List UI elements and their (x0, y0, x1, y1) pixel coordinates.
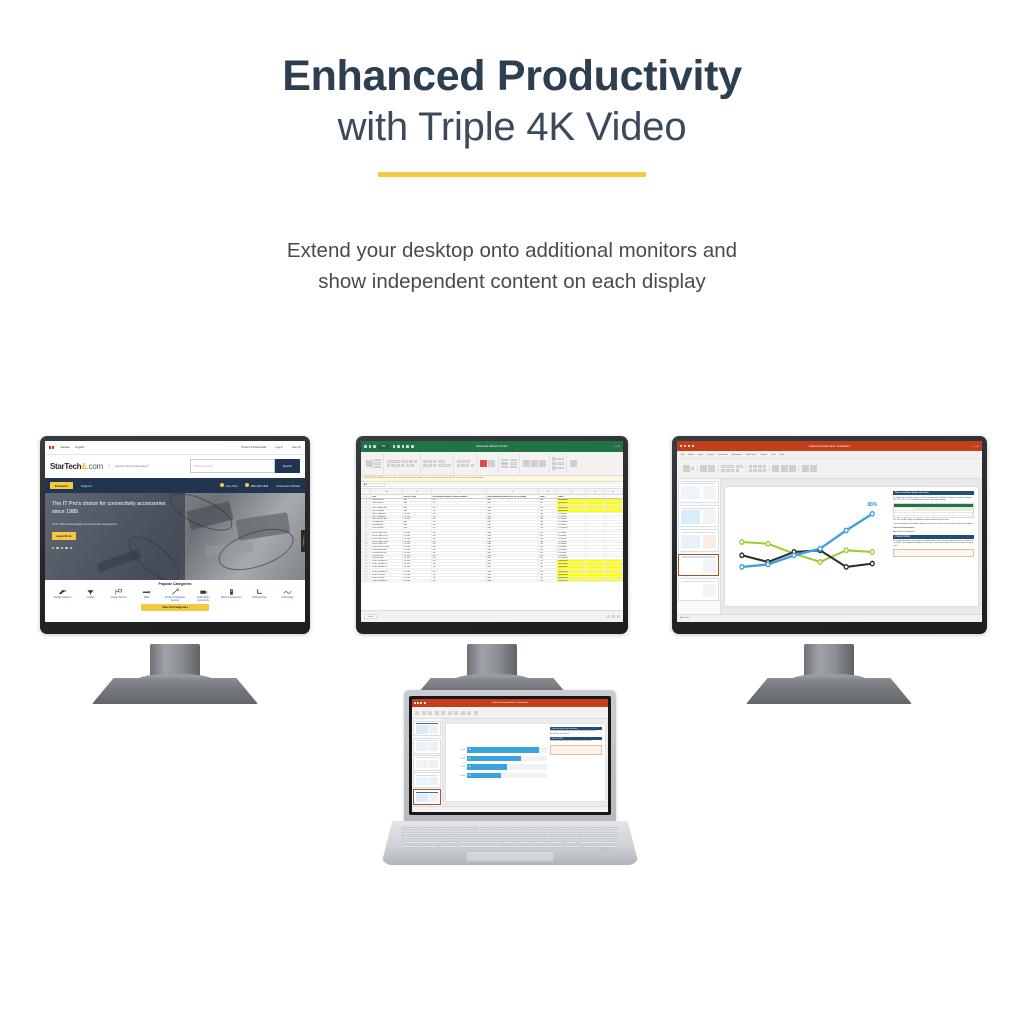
cell-blank[interactable] (605, 510, 623, 512)
cell-basic[interactable]: Basic Enhanced Option (Only Call On Usag… (487, 496, 539, 498)
cell-full[interactable]: Yes (432, 566, 487, 568)
cell-min[interactable]: On Site (403, 574, 432, 576)
cell-blank[interactable] (605, 535, 623, 537)
cell-full[interactable]: Full Enhanced Option (Contact Included) (432, 496, 487, 498)
cell-blank[interactable] (605, 505, 623, 507)
slide-thumbnail-5[interactable] (678, 578, 719, 600)
bar-chart-row[interactable]: Cat 251 (449, 756, 547, 762)
row-number[interactable]: 20 (361, 549, 371, 551)
cell-basic[interactable]: N/A (487, 532, 539, 534)
cell-full[interactable]: Yes (432, 571, 487, 573)
cell-video[interactable]: Yes (539, 516, 557, 518)
laptop-slide-thumbnails[interactable] (412, 719, 443, 806)
cell-blank[interactable] (586, 507, 604, 509)
ribbon-group-styles[interactable] (477, 453, 498, 474)
cell-basic[interactable]: N/A (487, 516, 539, 518)
category-kvm-switches[interactable]: KVM Switches (247, 588, 272, 602)
cell-full[interactable]: Yes (432, 510, 487, 512)
cell-blank[interactable] (586, 510, 604, 512)
cell-sku[interactable]: SKU (371, 496, 402, 498)
cell-min[interactable]: N/A (403, 507, 432, 509)
row-number[interactable]: 4 (361, 505, 371, 507)
cell-status[interactable]: In Review (557, 543, 586, 545)
cell-status[interactable]: Syndicated (557, 569, 586, 571)
cell-video[interactable]: Video (539, 496, 557, 498)
cell-sku[interactable]: DKMYCHDMIDP2 (371, 566, 402, 568)
tab-insert[interactable]: Insert (698, 454, 703, 456)
cell-status[interactable]: In Review (557, 555, 586, 557)
cell-basic[interactable]: N/A (487, 580, 539, 582)
laptop-slide-thumbnail-3[interactable] (413, 755, 441, 771)
cell-min[interactable]: On Site (403, 569, 432, 571)
sheet-tab-1[interactable]: Sheet1 (364, 614, 377, 619)
category-device-hardware-security[interactable]: Device & Hardware Security (163, 588, 188, 602)
cell-video[interactable]: Yes (539, 513, 557, 515)
ribbon-group-font[interactable] (384, 453, 421, 474)
cell-basic[interactable]: N/A (487, 569, 539, 571)
feedback-tab[interactable]: Feedback (301, 530, 305, 552)
cell-full[interactable]: Yes (432, 499, 487, 501)
row-number[interactable]: 8 (361, 516, 371, 518)
cell-blank[interactable] (605, 569, 623, 571)
cell-status[interactable]: Syndicated (557, 574, 586, 576)
cell-basic[interactable]: N/A (487, 557, 539, 559)
excel-ribbon[interactable] (361, 452, 623, 476)
tab-slideshow[interactable]: Slide Show (746, 454, 756, 456)
cell-min[interactable]: On Site (403, 560, 432, 562)
table-row[interactable]: 31DKMYCHDMIDC4On SiteYesN/AYesSyndicated (361, 580, 623, 583)
cell-blank[interactable] (605, 538, 623, 540)
col-E[interactable]: E (539, 489, 557, 494)
cell-sku[interactable]: DKDPMDH2DLA (371, 549, 402, 551)
cell-blank[interactable] (605, 516, 623, 518)
cell-sku[interactable]: MXHDMIDVIF (371, 499, 402, 501)
cell-video[interactable]: Yes (539, 546, 557, 548)
cell-status[interactable]: Status (557, 496, 586, 498)
cell-video[interactable]: Yes (539, 566, 557, 568)
cell-status[interactable]: In Review (557, 538, 586, 540)
cell-video[interactable]: Yes (539, 518, 557, 520)
cell-basic[interactable]: N/A (487, 555, 539, 557)
nav-support[interactable]: Support (77, 482, 96, 489)
slide-thumbnail-4[interactable] (678, 554, 719, 576)
cell-blank[interactable] (586, 538, 604, 540)
cell-basic[interactable]: N/A (487, 538, 539, 540)
cell-full[interactable]: Yes (432, 502, 487, 504)
cell-status[interactable]: Syndicated (557, 577, 586, 579)
cell-full[interactable]: Yes (432, 541, 487, 543)
cell-min[interactable]: On Site (403, 518, 432, 520)
cell-status[interactable]: Syndicated (557, 560, 586, 562)
phone-link[interactable]: 800-265-1844 (245, 483, 268, 488)
cell-blank[interactable] (586, 541, 604, 543)
cell-min[interactable]: On Site (403, 530, 432, 532)
slide-thumbnail-2[interactable] (678, 505, 719, 527)
cell-sku[interactable]: DKDPM2DLO (371, 555, 402, 557)
row-number[interactable]: 22 (361, 555, 371, 557)
cell-basic[interactable]: N/A (487, 521, 539, 523)
row-number[interactable]: 2 (361, 499, 371, 501)
cell-video[interactable]: Yes (539, 580, 557, 582)
cell-status[interactable]: In Review (557, 513, 586, 515)
cell-video[interactable]: Yes (539, 555, 557, 557)
cell-basic[interactable]: N/A (487, 507, 539, 509)
cell-video[interactable]: Yes (539, 521, 557, 523)
slide-thumbnail-3[interactable] (678, 529, 719, 551)
cell-blank[interactable] (605, 527, 623, 529)
slide-thumbnail-1[interactable] (678, 481, 719, 503)
row-number[interactable]: 26 (361, 566, 371, 568)
cell-min[interactable]: On Site (403, 577, 432, 579)
live-chat-link[interactable]: Live Chat (220, 483, 237, 488)
cell-full[interactable]: Yes (432, 521, 487, 523)
cell-min[interactable]: On Site (403, 580, 432, 582)
cell-sku[interactable]: MXDPTRACK2DL3 (371, 538, 402, 540)
cell-sku[interactable]: MXDP2HDMI (371, 527, 402, 529)
cell-status[interactable]: In Review (557, 549, 586, 551)
cell-status[interactable]: Syndicated (557, 571, 586, 573)
cell-blank[interactable] (586, 574, 604, 576)
cell-min[interactable]: On Site (403, 563, 432, 565)
cell-full[interactable]: Yes (432, 560, 487, 562)
cell-full[interactable]: Yes (432, 527, 487, 529)
cell-blank[interactable] (605, 541, 623, 543)
cell-video[interactable]: Yes (539, 505, 557, 507)
drivers-downloads-link[interactable]: Drivers & Downloads (241, 446, 266, 449)
cart-link[interactable]: Cart (0) (292, 446, 301, 449)
row-number[interactable]: 25 (361, 563, 371, 565)
cell-full[interactable]: Yes (432, 563, 487, 565)
cell-min[interactable]: On Site (403, 538, 432, 540)
cell-video[interactable]: Yes (539, 507, 557, 509)
cell-full[interactable]: Yes (432, 552, 487, 554)
cell-blank[interactable] (586, 524, 604, 526)
cell-blank[interactable] (586, 560, 604, 562)
cell-sku[interactable]: MDP2HD4KS (371, 502, 402, 504)
cell-status[interactable]: In Review (557, 530, 586, 532)
cell-full[interactable]: Yes (432, 513, 487, 515)
cell-min[interactable]: MIN or On Site (403, 496, 432, 498)
cell-full[interactable]: Yes (432, 574, 487, 576)
file-tab[interactable]: File (379, 445, 389, 449)
column-headers[interactable]: A B C D E F G H (361, 489, 623, 495)
row-number[interactable]: 15 (361, 535, 371, 537)
cell-basic[interactable]: N/A (487, 560, 539, 562)
cell-sku[interactable]: DKMYCHDMIDPN (371, 560, 402, 562)
cell-blank[interactable] (605, 571, 623, 573)
sheet-tabs[interactable]: Sheet1 (364, 614, 377, 619)
formula-bar[interactable]: A1 (361, 482, 623, 489)
excel-grid[interactable]: 1SKUMIN or On SiteFull Enhanced Option (… (361, 496, 623, 610)
cell-sku[interactable]: MDP2HDMIVGA (371, 505, 402, 507)
cell-full[interactable]: Yes (432, 569, 487, 571)
cell-blank[interactable] (586, 546, 604, 548)
cell-video[interactable]: Yes (539, 543, 557, 545)
col-F[interactable]: F (557, 489, 586, 494)
cell-blank[interactable] (586, 505, 604, 507)
col-B[interactable]: B (403, 489, 432, 494)
cell-basic[interactable]: N/A (487, 563, 539, 565)
col-D[interactable]: D (487, 489, 539, 494)
cell-blank[interactable] (605, 580, 623, 582)
cell-min[interactable]: On Site (403, 535, 432, 537)
row-number[interactable]: 18 (361, 543, 371, 545)
cell-sku[interactable]: MDP2HDMIVGA2 (371, 518, 402, 520)
cell-video[interactable]: Yes (539, 527, 557, 529)
row-number[interactable]: 24 (361, 560, 371, 562)
zoom-controls[interactable] (607, 615, 620, 618)
cell-basic[interactable]: N/A (487, 510, 539, 512)
ribbon-group-cells[interactable] (520, 453, 550, 474)
laptop-keyboard[interactable] (402, 827, 617, 848)
cell-blank[interactable] (605, 513, 623, 515)
cell-basic[interactable]: N/A (487, 530, 539, 532)
cell-full[interactable]: Yes (432, 580, 487, 582)
cell-basic[interactable]: N/A (487, 527, 539, 529)
ribbon-group-analysis[interactable] (567, 453, 579, 474)
row-number[interactable]: 7 (361, 513, 371, 515)
cell-basic[interactable]: N/A (487, 552, 539, 554)
tab-review[interactable]: Review (760, 454, 767, 456)
quick-access-toolbar[interactable] (364, 445, 376, 448)
cell-full[interactable]: Yes (432, 505, 487, 507)
cell-blank[interactable] (586, 555, 604, 557)
cell-full[interactable]: Yes (432, 538, 487, 540)
cell-blank[interactable] (605, 577, 623, 579)
tab-view[interactable]: View (771, 454, 775, 456)
cell-video[interactable]: Yes (539, 563, 557, 565)
cell-full[interactable]: Yes (432, 543, 487, 545)
cell-status[interactable]: In Review (557, 516, 586, 518)
cell-full[interactable]: Yes (432, 516, 487, 518)
cell-sku[interactable]: DKDPMDH2DLB (371, 552, 402, 554)
cell-basic[interactable]: N/A (487, 518, 539, 520)
row-number[interactable]: 5 (361, 507, 371, 509)
bar-chart-row[interactable]: Cat 168 (449, 747, 547, 753)
login-link[interactable]: Log In (275, 446, 282, 449)
bar-chart-row[interactable]: Cat 432 (449, 773, 547, 779)
cell-min[interactable]: On Site (403, 571, 432, 573)
cell-video[interactable]: Yes (539, 530, 557, 532)
tab-animations[interactable]: Animations (732, 454, 742, 456)
hero-carousel-dots[interactable] (52, 547, 178, 549)
nav-products[interactable]: Products (50, 482, 73, 489)
cell-full[interactable]: Yes (432, 507, 487, 509)
cell-blank[interactable] (586, 502, 604, 504)
cell-blank[interactable] (586, 563, 604, 565)
ppt-group-editing[interactable] (799, 465, 819, 472)
laptop-slide-thumbnail-4[interactable] (413, 772, 441, 788)
cell-sku[interactable]: MDP2DPMM6 (371, 510, 402, 512)
cell-status[interactable]: Syndicated (557, 507, 586, 509)
cell-status[interactable]: In Review (557, 524, 586, 526)
cell-status[interactable]: In Review (557, 518, 586, 520)
cell-full[interactable]: Yes (432, 524, 487, 526)
row-number[interactable]: 14 (361, 532, 371, 534)
slide-canvas[interactable]: 88% These are Excel charts with data To … (721, 479, 982, 614)
category-display-mounts[interactable]: Display Mounts (106, 588, 131, 602)
cell-video[interactable]: Yes (539, 571, 557, 573)
cell-status[interactable]: In Review (557, 532, 586, 534)
cell-min[interactable]: On Site (403, 543, 432, 545)
formula-input[interactable] (388, 483, 621, 487)
cell-video[interactable]: Yes (539, 552, 557, 554)
cell-blank[interactable] (586, 496, 604, 498)
cell-blank[interactable] (586, 569, 604, 571)
row-number[interactable]: 29 (361, 574, 371, 576)
cell-basic[interactable]: N/A (487, 524, 539, 526)
cell-basic[interactable]: N/A (487, 513, 539, 515)
laptop-slide-thumbnail-1[interactable] (413, 721, 441, 737)
cell-blank[interactable] (586, 543, 604, 545)
cell-video[interactable]: Yes (539, 560, 557, 562)
cell-min[interactable]: On Site (403, 552, 432, 554)
cell-status[interactable]: In Review (557, 546, 586, 548)
row-number[interactable]: 17 (361, 541, 371, 543)
cell-blank[interactable] (605, 574, 623, 576)
cell-blank[interactable] (605, 543, 623, 545)
cell-status[interactable]: In Progress (557, 557, 586, 559)
cell-status[interactable]: Syndicated (557, 502, 586, 504)
cell-min[interactable]: On Site (403, 516, 432, 518)
row-number[interactable]: 28 (361, 571, 371, 573)
cell-video[interactable]: Yes (539, 541, 557, 543)
search-button[interactable]: Search (275, 459, 300, 473)
ribbon-group-alignment[interactable] (421, 453, 454, 474)
row-number[interactable]: 23 (361, 557, 371, 559)
cell-blank[interactable] (605, 552, 623, 554)
cell-basic[interactable]: N/A (487, 502, 539, 504)
category-sfps[interactable]: SFPs (134, 588, 159, 602)
cell-basic[interactable]: N/A (487, 566, 539, 568)
cell-blank[interactable] (605, 499, 623, 501)
cell-basic[interactable]: N/A (487, 505, 539, 507)
cell-sku[interactable]: DKMYC4DPBR (371, 574, 402, 576)
tab-design[interactable]: Design (707, 454, 713, 456)
cell-blank[interactable] (586, 557, 604, 559)
category-racks-enclosures[interactable]: Racks & Enclosures (219, 588, 244, 602)
cell-blank[interactable] (586, 513, 604, 515)
cell-min[interactable]: N/A (403, 521, 432, 523)
cell-video[interactable]: Yes (539, 532, 557, 534)
cell-min[interactable]: N/A (403, 524, 432, 526)
cell-status[interactable]: Syndicated (557, 580, 586, 582)
cell-min[interactable]: On Site (403, 541, 432, 543)
ppt-group-drawing[interactable] (770, 465, 800, 472)
slide-thumbnail-panel[interactable] (677, 479, 721, 614)
cell-blank[interactable] (605, 563, 623, 565)
row-number[interactable]: 9 (361, 518, 371, 520)
category-networking[interactable]: Networking (275, 588, 300, 602)
cell-basic[interactable]: N/A (487, 574, 539, 576)
connection-wizard-link[interactable]: Connection Wizard (276, 484, 300, 488)
row-number[interactable]: 27 (361, 569, 371, 571)
cell-blank[interactable] (605, 566, 623, 568)
cell-blank[interactable] (586, 521, 604, 523)
cell-min[interactable]: N/A (403, 527, 432, 529)
cell-full[interactable]: Yes (432, 532, 487, 534)
cell-blank[interactable] (605, 518, 623, 520)
cell-min[interactable]: N/A (403, 510, 432, 512)
cell-blank[interactable] (605, 507, 623, 509)
cell-sku[interactable]: DKMYCHDMIDC4 (371, 580, 402, 582)
window-controls[interactable]: – □ ✕ (614, 445, 620, 448)
cell-basic[interactable]: N/A (487, 571, 539, 573)
cell-full[interactable]: Yes (432, 577, 487, 579)
row-number[interactable]: 31 (361, 580, 371, 582)
cell-status[interactable]: In Review (557, 541, 586, 543)
cell-video[interactable]: Yes (539, 574, 557, 576)
cell-blank[interactable] (605, 555, 623, 557)
startech-logo[interactable]: StarTech&.com (50, 462, 103, 471)
view-all-categories-button[interactable]: View All Categories (141, 604, 210, 611)
cell-basic[interactable]: N/A (487, 549, 539, 551)
cell-min[interactable]: On Site (403, 532, 432, 534)
cell-blank[interactable] (586, 577, 604, 579)
cell-min[interactable]: On Site (403, 513, 432, 515)
cell-blank[interactable] (586, 516, 604, 518)
cell-blank[interactable] (605, 557, 623, 559)
ppt-ribbon[interactable] (677, 459, 982, 479)
cell-sku[interactable]: MDP2VGADVIHD (371, 507, 402, 509)
cell-sku[interactable]: DKDOCK4DH1DSA (371, 546, 402, 548)
cell-sku[interactable]: MXDPTRACK5N (371, 543, 402, 545)
cell-basic[interactable]: N/A (487, 535, 539, 537)
cell-blank[interactable] (605, 502, 623, 504)
bar-chart[interactable]: Cat 168Cat 251Cat 338Cat 432 (449, 727, 550, 798)
cell-blank[interactable] (586, 518, 604, 520)
ribbon-group-clipboard[interactable] (363, 453, 384, 474)
laptop-notes-panel[interactable]: These are Excel charts with data To chan… (550, 727, 602, 798)
fingerprint-reader-icon[interactable] (600, 847, 610, 851)
ppt-group-paragraph[interactable] (746, 465, 769, 473)
cell-full[interactable]: Yes (432, 518, 487, 520)
cell-video[interactable]: Yes (539, 499, 557, 501)
cell-status[interactable]: Syndicated (557, 510, 586, 512)
cell-blank[interactable] (586, 566, 604, 568)
cell-blank[interactable] (605, 530, 623, 532)
cell-video[interactable]: Yes (539, 538, 557, 540)
cell-basic[interactable]: N/A (487, 543, 539, 545)
cell-basic[interactable]: N/A (487, 546, 539, 548)
cell-basic[interactable]: N/A (487, 499, 539, 501)
country-selector[interactable]: Canada (60, 446, 69, 449)
tab-home[interactable]: Home (688, 454, 694, 456)
col-G[interactable]: G (586, 489, 604, 494)
cell-blank[interactable] (605, 524, 623, 526)
cell-full[interactable]: Yes (432, 530, 487, 532)
ppt-group-slides[interactable] (698, 465, 719, 472)
cell-sku[interactable]: DKDPM3LAD (371, 557, 402, 559)
cell-min[interactable]: N/A (403, 505, 432, 507)
cell-full[interactable]: Yes (432, 549, 487, 551)
cell-blank[interactable] (586, 549, 604, 551)
ppt-ribbon-tabs[interactable]: File Home Insert Design Transitions Anim… (677, 451, 982, 459)
cell-min[interactable]: On Site (403, 549, 432, 551)
cell-sku[interactable]: MXDPTRACK2DL2 (371, 535, 402, 537)
cell-blank[interactable] (605, 521, 623, 523)
row-number[interactable]: 6 (361, 510, 371, 512)
cell-sku[interactable]: DKMYCHDMIDP4 (371, 571, 402, 573)
language-selector[interactable]: English (75, 446, 84, 449)
cell-min[interactable]: N/A (403, 502, 432, 504)
cell-video[interactable]: Yes (539, 577, 557, 579)
cell-min[interactable]: On Site (403, 546, 432, 548)
bar-chart-row[interactable]: Cat 338 (449, 764, 547, 770)
cell-full[interactable]: Yes (432, 535, 487, 537)
laptop-slide-canvas[interactable]: Cat 168Cat 251Cat 338Cat 432 These are E… (443, 719, 608, 806)
cell-basic[interactable]: N/A (487, 577, 539, 579)
